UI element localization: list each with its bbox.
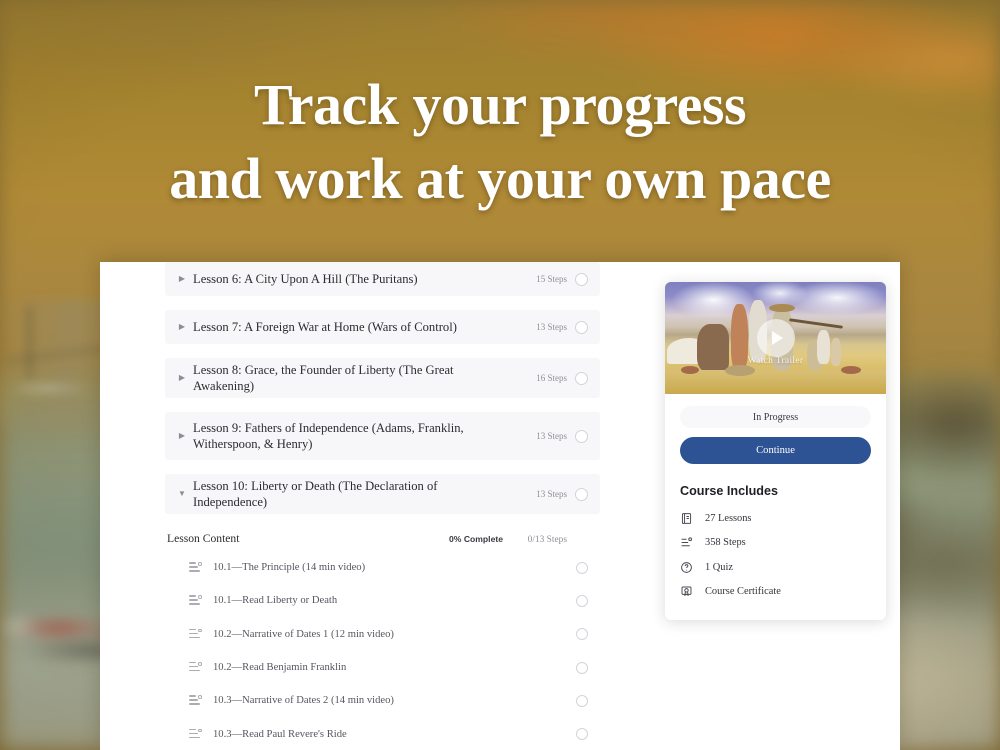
step-label: 10.3—Narrative of Dates 2 (14 min video)	[213, 695, 576, 706]
course-include-item: 27 Lessons	[680, 506, 871, 531]
play-icon[interactable]	[757, 319, 795, 357]
collapsed-triangle-icon[interactable]: ▶	[175, 374, 189, 382]
thumbnail-foreground-right	[841, 366, 861, 374]
step-label: 10.1—Read Liberty or Death	[213, 595, 576, 606]
collapsed-triangle-icon[interactable]: ▶	[175, 432, 189, 440]
thumbnail-hat	[769, 304, 795, 312]
lesson-complete-circle[interactable]	[575, 430, 588, 443]
course-include-label: 1 Quiz	[705, 562, 733, 573]
sidebar-body: In Progress Continue Course Includes 27 …	[665, 394, 886, 620]
question-circle-icon	[680, 561, 693, 574]
percent-complete-label: 0% Complete	[449, 534, 503, 544]
course-include-label: Course Certificate	[705, 586, 781, 597]
course-sidebar-card: Watch Trailer In Progress Continue Cours…	[665, 282, 886, 620]
lesson-row[interactable]: ▶ Lesson 6: A City Upon A Hill (The Puri…	[165, 262, 600, 296]
list-item[interactable]: 10.2—Narrative of Dates 1 (12 min video)	[165, 618, 600, 651]
list-item[interactable]: 10.3—Narrative of Dates 2 (14 min video)	[165, 684, 600, 717]
lesson-title: Lesson 10: Liberty or Death (The Declara…	[189, 474, 521, 514]
steps-list-icon	[680, 536, 693, 549]
step-complete-circle[interactable]	[576, 695, 588, 707]
headline-line-1: Track your progress	[254, 72, 746, 137]
steps-list-icon	[189, 562, 202, 573]
steps-list-icon	[189, 662, 202, 673]
steps-list-icon	[189, 629, 202, 640]
lesson-title: Lesson 9: Fathers of Independence (Adams…	[189, 416, 521, 456]
lesson-title: Lesson 6: A City Upon A Hill (The Purita…	[189, 267, 521, 291]
thumbnail-foreground-left	[681, 366, 699, 374]
expanded-triangle-icon[interactable]: ▼	[175, 490, 189, 498]
steps-list-icon	[189, 729, 202, 740]
step-complete-circle[interactable]	[576, 728, 588, 740]
lesson-complete-circle[interactable]	[575, 372, 588, 385]
lesson-row[interactable]: ▶ Lesson 8: Grace, the Founder of Libert…	[165, 358, 600, 398]
lesson-title: Lesson 7: A Foreign War at Home (Wars of…	[189, 315, 521, 339]
lesson-complete-circle[interactable]	[575, 488, 588, 501]
status-badge: In Progress	[680, 406, 871, 428]
continue-button[interactable]: Continue	[680, 437, 871, 464]
step-complete-circle[interactable]	[576, 662, 588, 674]
step-label: 10.1—The Principle (14 min video)	[213, 562, 576, 573]
lesson-step-count: 15 Steps	[521, 273, 567, 286]
step-label: 10.2—Read Benjamin Franklin	[213, 662, 576, 673]
step-label: 10.3—Read Paul Revere's Ride	[213, 729, 576, 740]
lesson-content-title: Lesson Content	[167, 532, 449, 545]
step-complete-circle[interactable]	[576, 595, 588, 607]
lesson-title: Lesson 8: Grace, the Founder of Liberty …	[189, 358, 521, 398]
list-item[interactable]: 10.1—Read Liberty or Death	[165, 584, 600, 617]
thumbnail-rock	[725, 365, 755, 376]
step-complete-circle[interactable]	[576, 628, 588, 640]
step-complete-circle[interactable]	[576, 562, 588, 574]
lesson-list-column: ▶ Lesson 6: A City Upon A Hill (The Puri…	[100, 262, 665, 750]
lesson-row[interactable]: ▶ Lesson 9: Fathers of Independence (Ada…	[165, 412, 600, 460]
lesson-step-count: 13 Steps	[521, 430, 567, 443]
lesson-step-count: 13 Steps	[521, 488, 567, 501]
steps-progress-label: 0/13 Steps	[521, 535, 567, 545]
lesson-content-header: Lesson Content 0% Complete 0/13 Steps	[165, 532, 600, 545]
list-item[interactable]: 10.2—Read Benjamin Franklin	[165, 651, 600, 684]
watch-trailer-label: Watch Trailer	[665, 356, 886, 366]
page-headline: Track your progress and work at your own…	[0, 68, 1000, 216]
steps-list-icon	[189, 695, 202, 706]
course-include-label: 27 Lessons	[705, 513, 751, 524]
headline-line-2: and work at your own pace	[0, 142, 1000, 216]
lesson-step-count: 13 Steps	[521, 321, 567, 334]
course-include-item: 358 Steps	[680, 531, 871, 556]
course-include-item: Course Certificate	[680, 580, 871, 605]
lesson-complete-circle[interactable]	[575, 273, 588, 286]
steps-list-icon	[189, 595, 202, 606]
collapsed-triangle-icon[interactable]: ▶	[175, 275, 189, 283]
lesson-complete-circle[interactable]	[575, 321, 588, 334]
book-icon	[680, 512, 693, 525]
course-include-item: 1 Quiz	[680, 555, 871, 580]
course-trailer-thumbnail[interactable]: Watch Trailer	[665, 282, 886, 394]
collapsed-triangle-icon[interactable]: ▶	[175, 323, 189, 331]
certificate-icon	[680, 585, 693, 598]
lesson-step-count: 16 Steps	[521, 372, 567, 385]
course-page-card: ▶ Lesson 6: A City Upon A Hill (The Puri…	[100, 262, 900, 750]
list-item[interactable]: 10.3—Read Paul Revere's Ride	[165, 717, 600, 750]
course-includes-title: Course Includes	[680, 484, 871, 498]
lesson-row[interactable]: ▶ Lesson 7: A Foreign War at Home (Wars …	[165, 310, 600, 344]
lesson-row-expanded[interactable]: ▼ Lesson 10: Liberty or Death (The Decla…	[165, 474, 600, 514]
list-item[interactable]: 10.1—The Principle (14 min video)	[165, 551, 600, 584]
course-sidebar-column: Watch Trailer In Progress Continue Cours…	[665, 262, 900, 750]
course-include-label: 358 Steps	[705, 537, 746, 548]
step-label: 10.2—Narrative of Dates 1 (12 min video)	[213, 629, 576, 640]
